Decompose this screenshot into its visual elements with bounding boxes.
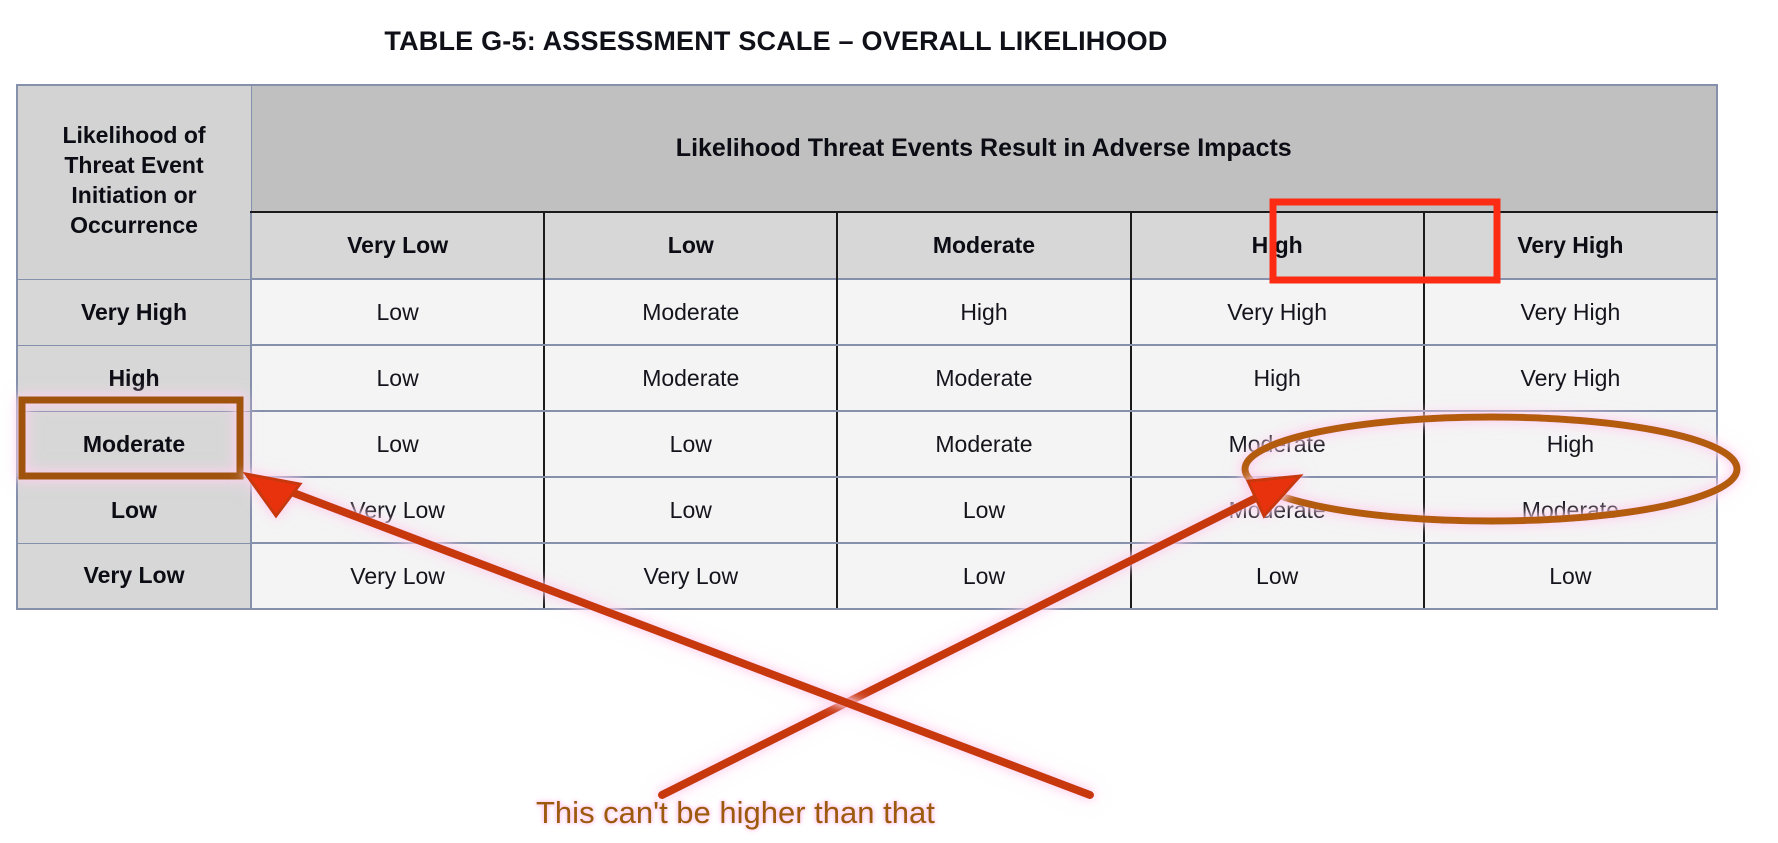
- cell-r1-c0: Low: [251, 345, 544, 411]
- column-header-moderate: Moderate: [837, 212, 1130, 279]
- cell-r2-c3: Moderate: [1131, 411, 1424, 477]
- row-header-very-low: Very Low: [17, 543, 251, 609]
- cell-r0-c0: Low: [251, 279, 544, 345]
- cell-r2-c4: High: [1424, 411, 1717, 477]
- cell-r3-c4: Moderate: [1424, 477, 1717, 543]
- corner-header-line-1: Likelihood of: [22, 121, 246, 151]
- table-row: Moderate Low Low Moderate Moderate High: [17, 411, 1717, 477]
- screenshot-root: TABLE G-5: ASSESSMENT SCALE – OVERALL LI…: [0, 0, 1778, 843]
- cell-r3-c2: Low: [837, 477, 1130, 543]
- cell-r2-c0: Low: [251, 411, 544, 477]
- cell-r3-c0: Very Low: [251, 477, 544, 543]
- cell-r1-c3: High: [1131, 345, 1424, 411]
- column-header-very-high: Very High: [1424, 212, 1717, 279]
- row-header-moderate: Moderate: [17, 411, 251, 477]
- cell-r0-c1: Moderate: [544, 279, 837, 345]
- corner-header-line-4: Occurrence: [22, 211, 246, 241]
- corner-header-line-3: Initiation or: [22, 181, 246, 211]
- table-row: High Low Moderate Moderate High Very Hig…: [17, 345, 1717, 411]
- table-row: Low Very Low Low Low Moderate Moderate: [17, 477, 1717, 543]
- row-header-high: High: [17, 345, 251, 411]
- column-header-low: Low: [544, 212, 837, 279]
- span-header-cell: Likelihood Threat Events Result in Adver…: [251, 85, 1717, 212]
- table-row: Very High Low Moderate High Very High Ve…: [17, 279, 1717, 345]
- cell-r4-c3: Low: [1131, 543, 1424, 609]
- corner-header-line-2: Threat Event: [22, 151, 246, 181]
- cell-r3-c3: Moderate: [1131, 477, 1424, 543]
- table-header-row-columns: Very Low Low Moderate High Very High: [17, 212, 1717, 279]
- annotation-caption: This can't be higher than that: [536, 795, 935, 831]
- cell-r4-c0: Very Low: [251, 543, 544, 609]
- table-header-row-top: Likelihood of Threat Event Initiation or…: [17, 85, 1717, 212]
- row-header-low: Low: [17, 477, 251, 543]
- cell-r4-c4: Low: [1424, 543, 1717, 609]
- row-header-very-high: Very High: [17, 279, 251, 345]
- cell-r0-c4: Very High: [1424, 279, 1717, 345]
- cell-r2-c2: Moderate: [837, 411, 1130, 477]
- cell-r3-c1: Low: [544, 477, 837, 543]
- table-row: Very Low Very Low Very Low Low Low Low: [17, 543, 1717, 609]
- cell-r2-c1: Low: [544, 411, 837, 477]
- cell-r0-c3: Very High: [1131, 279, 1424, 345]
- cell-r0-c2: High: [837, 279, 1130, 345]
- cell-r4-c1: Very Low: [544, 543, 837, 609]
- assessment-scale-table: Likelihood of Threat Event Initiation or…: [16, 84, 1718, 610]
- column-header-very-low: Very Low: [251, 212, 544, 279]
- column-header-high: High: [1131, 212, 1424, 279]
- cell-r4-c2: Low: [837, 543, 1130, 609]
- cell-r1-c2: Moderate: [837, 345, 1130, 411]
- cell-r1-c4: Very High: [1424, 345, 1717, 411]
- page-title: TABLE G-5: ASSESSMENT SCALE – OVERALL LI…: [0, 26, 1552, 57]
- cell-r1-c1: Moderate: [544, 345, 837, 411]
- corner-header-cell: Likelihood of Threat Event Initiation or…: [17, 85, 251, 279]
